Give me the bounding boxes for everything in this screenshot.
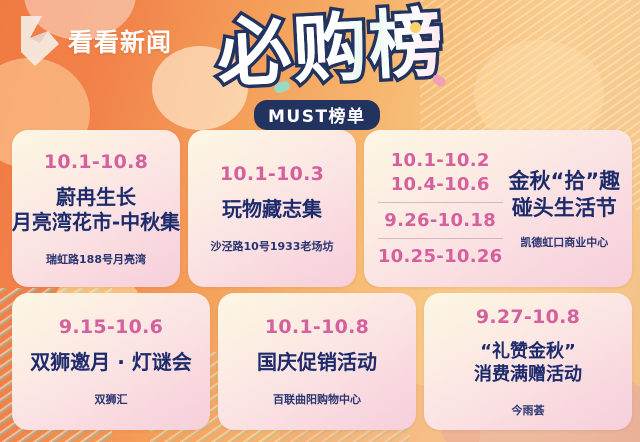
event-card[interactable]: 10.1-10.3 玩物藏志集 沙泾路10号1933老场坊 bbox=[188, 130, 356, 287]
event-card[interactable]: 9.27-10.8 “礼赞金秋” 消费满赠活动 今雨荟 bbox=[424, 293, 632, 430]
promo-poster: 看看新闻 必购榜 必购榜 MUST榜单 10.1-10.8 蔚冉生长 月亮湾花市… bbox=[0, 0, 640, 442]
headline-main-fill: 必购榜 bbox=[194, 0, 468, 99]
headline-subtitle: MUST榜单 bbox=[254, 100, 380, 130]
event-title-line: 玩物藏志集 bbox=[222, 197, 322, 222]
event-title-line: 双狮邀月 · 灯谜会 bbox=[30, 350, 192, 375]
confetti-dot-icon bbox=[410, 22, 421, 33]
event-date: 10.1-10.3 bbox=[220, 163, 324, 185]
event-date-list: 10.1-10.2 10.4-10.6 9.26-10.18 10.25-10.… bbox=[372, 150, 503, 267]
event-date: 10.1-10.8 bbox=[44, 151, 148, 173]
event-date: 10.1-10.8 bbox=[265, 316, 369, 338]
event-date: 9.26-10.18 bbox=[384, 210, 496, 231]
event-venue: 凯德虹口商业中心 bbox=[520, 234, 608, 250]
brand-name: 看看新闻 bbox=[68, 23, 172, 59]
event-card[interactable]: 10.1-10.8 蔚冉生长 月亮湾花市-中秋集 瑞虹路188号月亮湾 bbox=[12, 130, 180, 287]
event-title-line: 消费满赠活动 bbox=[474, 363, 582, 386]
event-date: 10.25-10.26 bbox=[378, 246, 503, 267]
event-venue: 双狮汇 bbox=[95, 391, 128, 407]
event-venue: 沙泾路10号1933老场坊 bbox=[211, 238, 334, 254]
kankan-k-logo-icon bbox=[18, 14, 62, 68]
event-venue: 百联曲阳购物中心 bbox=[273, 391, 361, 407]
event-card[interactable]: 9.15-10.6 双狮邀月 · 灯谜会 双狮汇 bbox=[12, 293, 210, 430]
event-title-line: 月亮湾花市-中秋集 bbox=[12, 210, 180, 235]
event-title-line: 金秋“拾”趣 bbox=[509, 168, 621, 195]
event-card-grid: 10.1-10.8 蔚冉生长 月亮湾花市-中秋集 瑞虹路188号月亮湾 10.1… bbox=[12, 130, 632, 430]
event-card[interactable]: 10.1-10.8 国庆促销活动 百联曲阳购物中心 bbox=[218, 293, 416, 430]
date-divider bbox=[378, 238, 503, 239]
event-title-line: 国庆促销活动 bbox=[257, 350, 377, 375]
event-title-line: “礼赞金秋” bbox=[480, 340, 576, 363]
event-venue: 今雨荟 bbox=[512, 402, 545, 418]
date-divider bbox=[378, 202, 503, 203]
event-detail: 金秋“拾”趣 碰头生活节 凯德虹口商业中心 bbox=[509, 168, 625, 250]
brand-logo: 看看新闻 bbox=[18, 14, 172, 68]
event-date: 9.27-10.8 bbox=[476, 306, 580, 328]
event-date: 10.4-10.6 bbox=[391, 174, 490, 195]
event-title-line: 蔚冉生长 bbox=[56, 185, 136, 210]
event-date: 9.15-10.6 bbox=[59, 316, 163, 338]
event-venue: 瑞虹路188号月亮湾 bbox=[46, 251, 146, 267]
event-title-line: 碰头生活节 bbox=[512, 195, 617, 222]
event-card[interactable]: 10.1-10.2 10.4-10.6 9.26-10.18 10.25-10.… bbox=[364, 130, 632, 287]
headline-block: 必购榜 必购榜 MUST榜单 bbox=[196, 4, 466, 130]
event-date: 10.1-10.2 bbox=[391, 150, 490, 171]
